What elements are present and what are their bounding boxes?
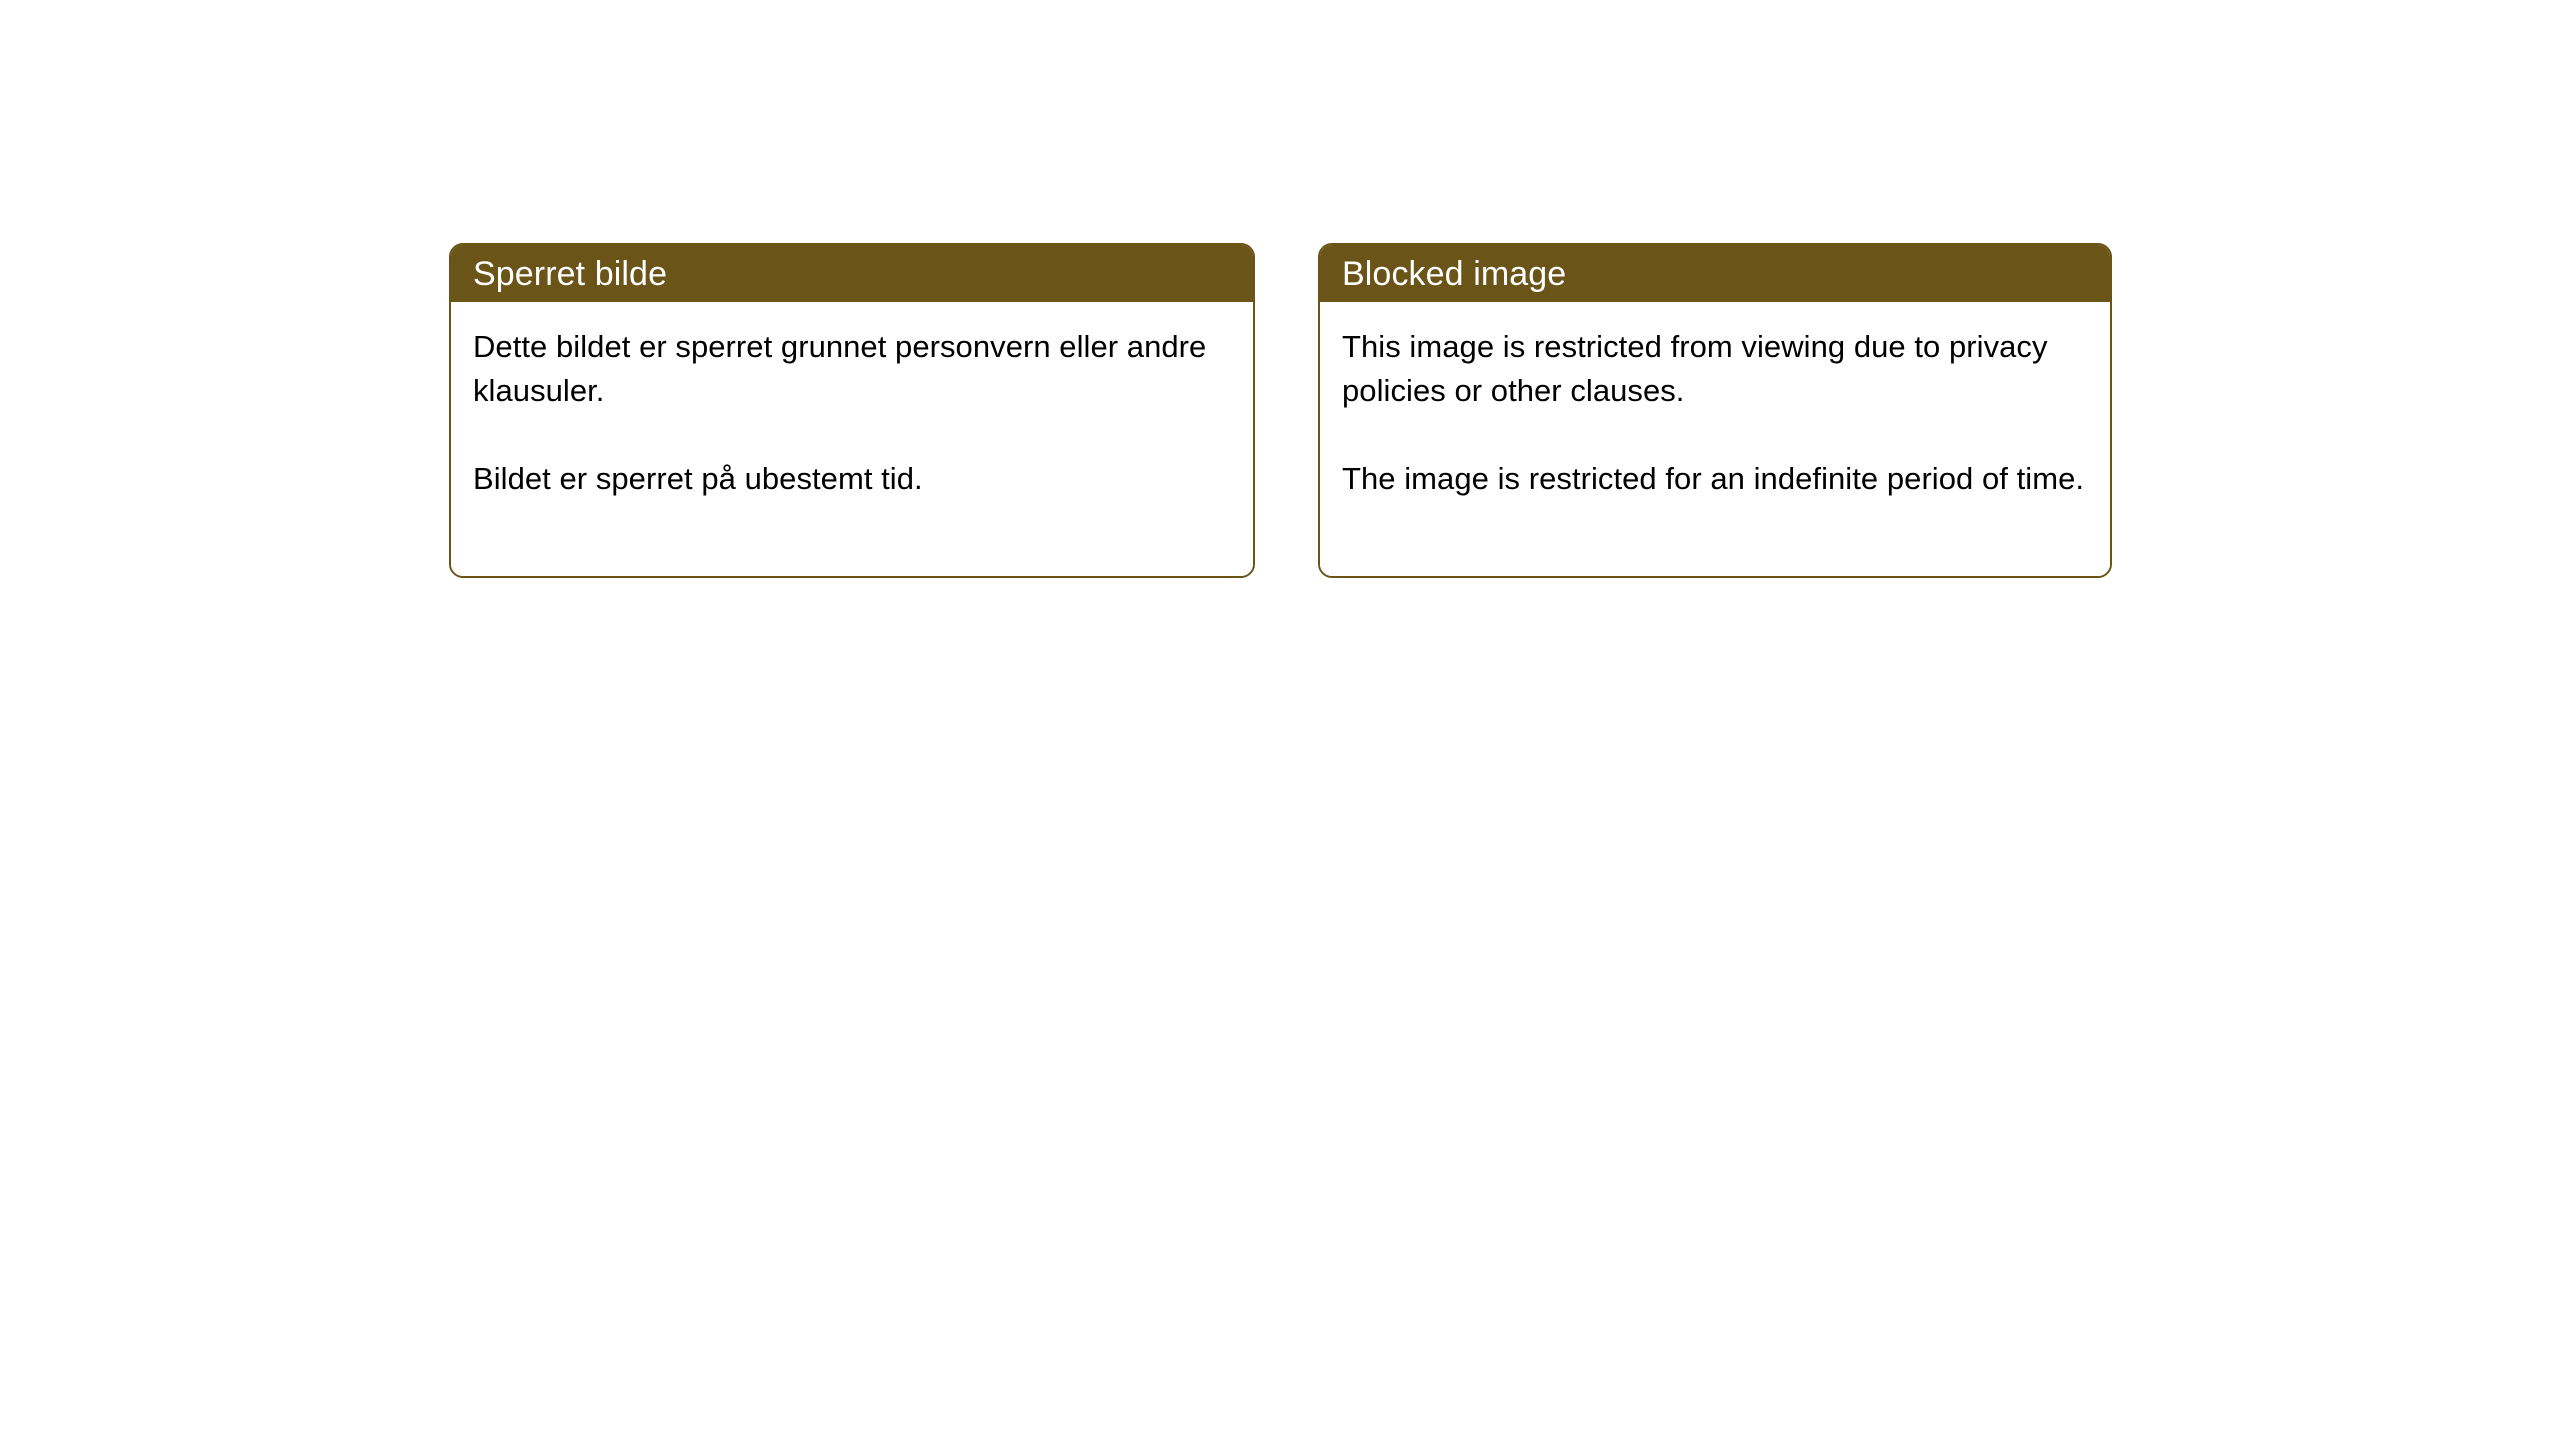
blocked-image-card-english: Blocked image This image is restricted f… — [1318, 243, 2112, 578]
blocked-image-card-norwegian: Sperret bilde Dette bildet er sperret gr… — [449, 243, 1255, 578]
card-header-norwegian: Sperret bilde — [451, 245, 1253, 302]
page-canvas: Sperret bilde Dette bildet er sperret gr… — [0, 0, 2560, 1440]
blocked-image-notice-group: Sperret bilde Dette bildet er sperret gr… — [449, 243, 2112, 578]
card-title-english: Blocked image — [1342, 257, 1566, 291]
card-body-english: This image is restricted from viewing du… — [1320, 302, 2110, 576]
card-header-english: Blocked image — [1320, 245, 2110, 302]
card-paragraph-duration-norwegian: Bildet er sperret på ubestemt tid. — [473, 457, 1229, 501]
card-paragraph-duration-english: The image is restricted for an indefinit… — [1342, 457, 2086, 501]
card-title-norwegian: Sperret bilde — [473, 257, 667, 291]
card-body-norwegian: Dette bildet er sperret grunnet personve… — [451, 302, 1253, 576]
card-paragraph-privacy-english: This image is restricted from viewing du… — [1342, 325, 2086, 413]
card-paragraph-privacy-norwegian: Dette bildet er sperret grunnet personve… — [473, 325, 1229, 413]
